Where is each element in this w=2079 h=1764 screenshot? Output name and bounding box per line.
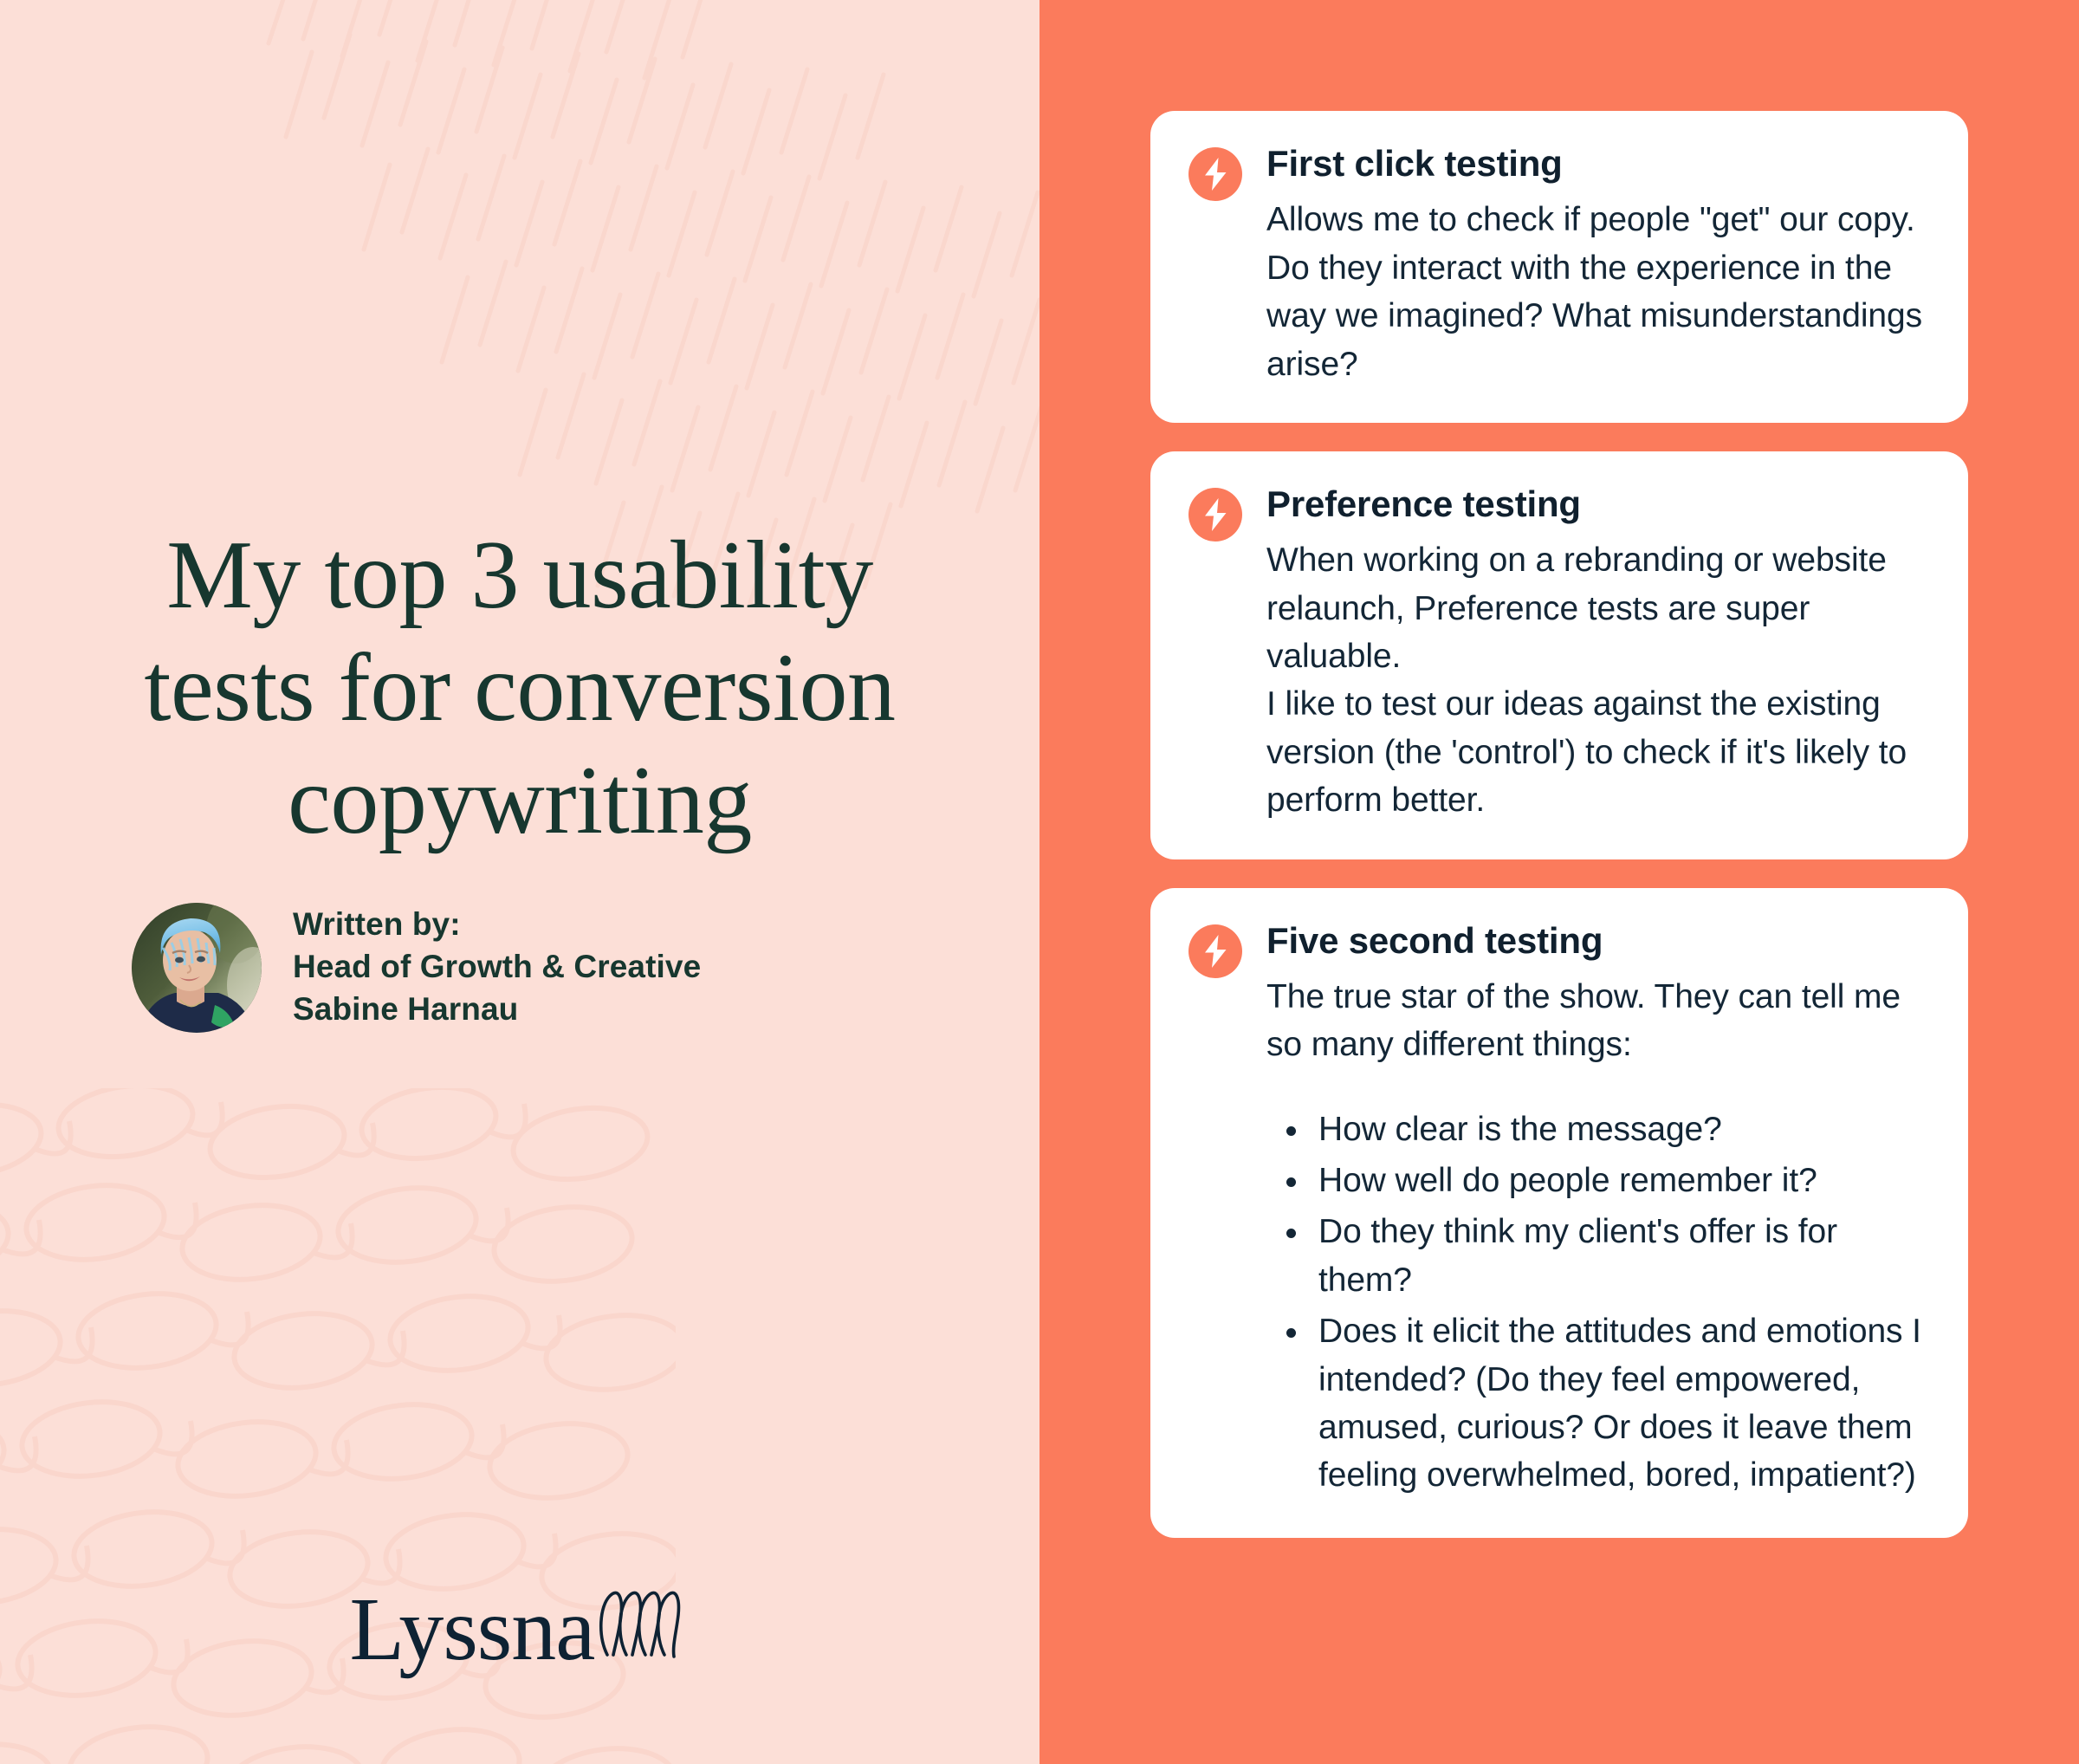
author-text: Written by: Head of Growth & Creative Sa…	[293, 904, 701, 1030]
card-bullet-list: How clear is the message? How well do pe…	[1266, 1106, 1930, 1500]
card-first-click-testing: First click testing Allows me to check i…	[1150, 111, 1968, 423]
right-panel: First click testing Allows me to check i…	[1039, 0, 2079, 1764]
card-title: First click testing	[1266, 142, 1930, 185]
brand-wordmark: Lyssna	[350, 1589, 595, 1670]
author-name: Sabine Harnau	[293, 989, 701, 1031]
author-block: Written by: Head of Growth & Creative Sa…	[0, 858, 1039, 1033]
card-paragraph: I like to test our ideas against the exi…	[1266, 680, 1930, 824]
author-role: Head of Growth & Creative	[293, 946, 701, 989]
brand-logo-wrap: Lyssna	[0, 1587, 1039, 1764]
left-panel: My top 3 usability tests for conversion …	[0, 0, 1039, 1764]
lightning-bolt-icon	[1188, 147, 1242, 201]
card-body: Five second testing The true star of the…	[1266, 919, 1930, 1503]
page-title: My top 3 usability tests for conversion …	[0, 0, 1039, 858]
card-title: Five second testing	[1266, 919, 1930, 963]
infographic-poster: My top 3 usability tests for conversion …	[0, 0, 2079, 1764]
card-body: First click testing Allows me to check i…	[1266, 142, 1930, 388]
loops-squiggle-mark-icon	[596, 1587, 690, 1662]
card-paragraph: When working on a rebranding or website …	[1266, 536, 1930, 680]
card-title: Preference testing	[1266, 483, 1930, 526]
card-paragraph: Allows me to check if people "get" our c…	[1266, 196, 1930, 388]
written-by-label: Written by:	[293, 904, 701, 946]
list-item: How clear is the message?	[1312, 1106, 1930, 1153]
lyssna-logo: Lyssna	[350, 1587, 690, 1670]
card-paragraph: The true star of the show. They can tell…	[1266, 973, 1930, 1069]
lightning-bolt-icon	[1188, 488, 1242, 542]
lightning-bolt-icon	[1188, 924, 1242, 978]
avatar	[132, 903, 262, 1033]
list-item: Do they think my client's offer is for t…	[1312, 1208, 1930, 1304]
card-five-second-testing: Five second testing The true star of the…	[1150, 888, 1968, 1538]
card-preference-testing: Preference testing When working on a reb…	[1150, 451, 1968, 859]
list-item: How well do people remember it?	[1312, 1157, 1930, 1204]
card-body: Preference testing When working on a reb…	[1266, 483, 1930, 825]
list-item: Does it elicit the attitudes and emotion…	[1312, 1307, 1930, 1500]
